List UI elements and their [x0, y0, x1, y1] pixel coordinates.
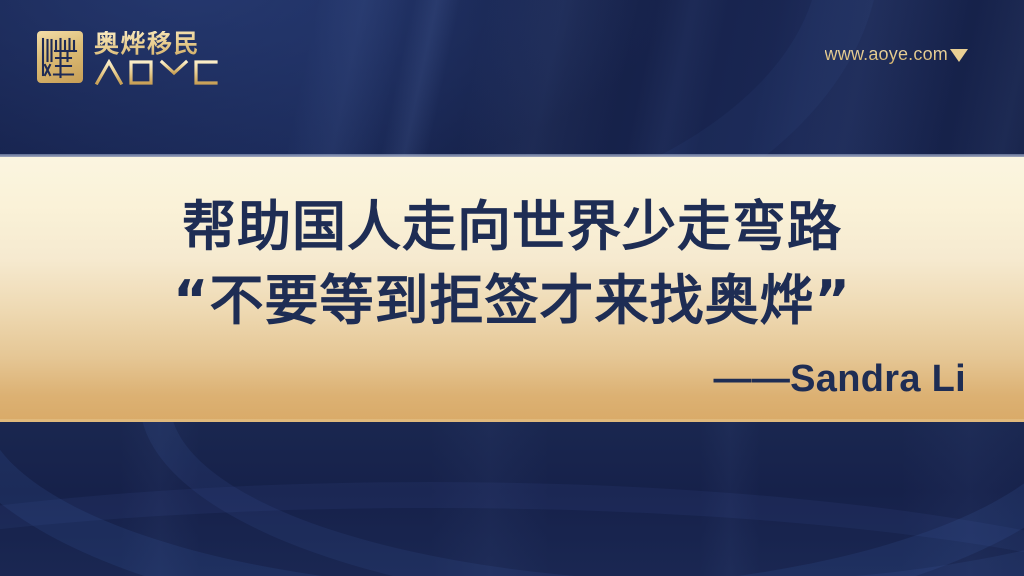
decorative-light-streak: [610, 0, 741, 157]
decorative-light-streak: [700, 422, 760, 576]
website-url-text: www.aoye.com: [825, 44, 948, 65]
band-top-divider: [0, 154, 1024, 157]
triangle-down-icon: [950, 49, 968, 62]
brand-latin-name: [94, 59, 242, 89]
decorative-light-streak: [270, 0, 420, 157]
decorative-light-streak: [440, 0, 649, 157]
decorative-light-streak: [900, 422, 1024, 576]
decorative-arc: [0, 422, 1024, 576]
brand-wordmark: 奥烨移民: [94, 31, 242, 89]
decorative-arc: [140, 422, 1024, 576]
brand-chinese-name: 奥烨移民: [94, 31, 242, 57]
headline-line-2: “不要等到拒签才来找奥烨”: [0, 270, 1024, 332]
headline-block: 帮助国人走向世界少走弯路 “不要等到拒签才来找奥烨”: [0, 196, 1024, 332]
brand-logo[interactable]: 奥烨移民: [37, 31, 242, 89]
headline-line-1: 帮助国人走向世界少走弯路: [0, 196, 1024, 258]
bottom-navy-banner: [0, 422, 1024, 576]
decorative-light-streak: [930, 0, 1024, 157]
decorative-light-streak: [731, 0, 979, 157]
aoye-seal-logo-icon: [37, 31, 83, 83]
decorative-light-streak: [120, 422, 200, 576]
decorative-light-streak: [430, 422, 550, 576]
presentation-slide: 奥烨移民: [0, 0, 1024, 576]
attribution-text: ——Sandra Li: [714, 358, 966, 401]
decorative-arc: [0, 482, 1024, 576]
website-url[interactable]: www.aoye.com: [825, 44, 968, 65]
decorative-light-streak: [364, 0, 471, 157]
